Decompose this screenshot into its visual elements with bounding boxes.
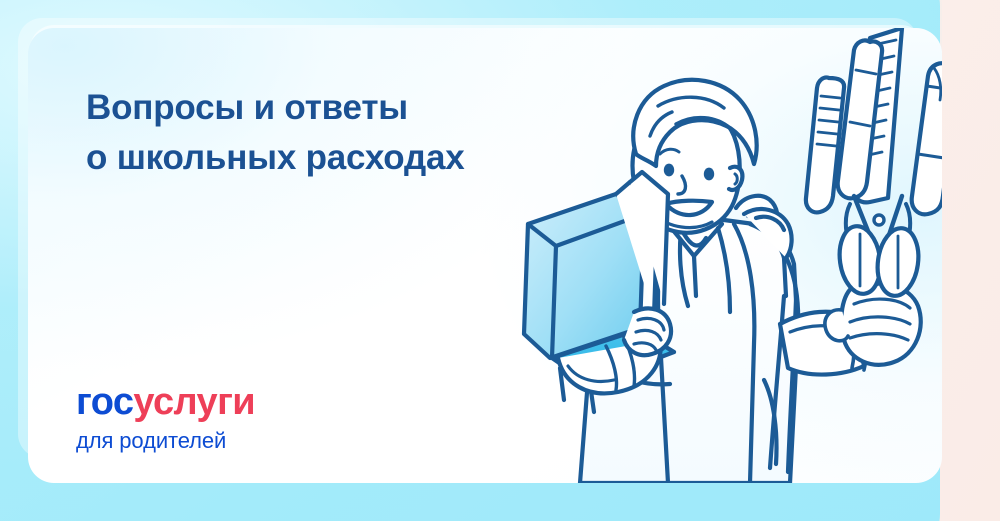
logo-wordmark: госуслуги (76, 383, 376, 421)
logo-word-uslugi: услуги (133, 381, 255, 423)
logo-subtitle: для родителей (76, 430, 376, 452)
pen-icon-2 (912, 63, 942, 214)
gosuslugi-logo: госуслуги для родителей (76, 383, 376, 452)
banner-root: Вопросы и ответы о школьных расходах гос… (0, 0, 1000, 521)
school-supplies (806, 28, 942, 298)
logo-word-gos: гос (76, 381, 133, 423)
schoolboy-illustration-svg (498, 28, 942, 483)
main-card: Вопросы и ответы о школьных расходах гос… (28, 28, 942, 483)
schoolboy-illustration (498, 28, 942, 483)
scissors-icon (835, 196, 922, 298)
